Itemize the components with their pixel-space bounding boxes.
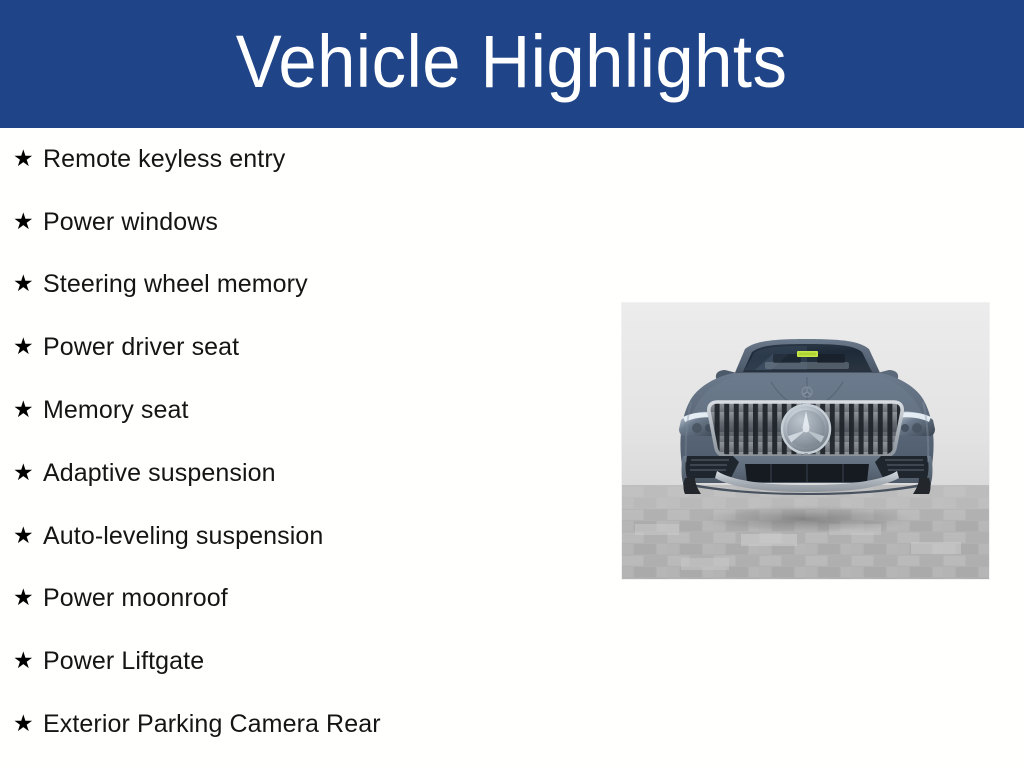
list-item-label: Power moonroof bbox=[43, 584, 228, 613]
list-item: ★ Adaptive suspension bbox=[0, 442, 600, 505]
page-title: Vehicle Highlights bbox=[236, 25, 788, 99]
list-item-label: Auto-leveling suspension bbox=[43, 522, 323, 551]
star-bullet-icon: ★ bbox=[13, 398, 43, 421]
mercedes-star-emblem bbox=[782, 405, 830, 453]
list-item-label: Power driver seat bbox=[43, 333, 239, 362]
vehicle-highlights-list: ★ Remote keyless entry ★ Power windows ★… bbox=[0, 128, 600, 756]
list-item: ★ Remote keyless entry bbox=[0, 128, 600, 191]
list-item-label: Power Liftgate bbox=[43, 647, 204, 676]
list-item-label: Exterior Parking Camera Rear bbox=[43, 710, 381, 739]
star-bullet-icon: ★ bbox=[13, 712, 43, 735]
list-item: ★ Exterior Parking Camera Rear bbox=[0, 693, 600, 756]
star-bullet-icon: ★ bbox=[13, 649, 43, 672]
star-bullet-icon: ★ bbox=[13, 147, 43, 170]
vehicle-front-view-illustration bbox=[621, 302, 990, 580]
star-bullet-icon: ★ bbox=[13, 586, 43, 609]
list-item: ★ Power Liftgate bbox=[0, 630, 600, 693]
vehicle-photo bbox=[621, 302, 990, 580]
list-item-label: Memory seat bbox=[43, 396, 189, 425]
star-bullet-icon: ★ bbox=[13, 272, 43, 295]
list-item: ★ Power windows bbox=[0, 191, 600, 254]
star-bullet-icon: ★ bbox=[13, 335, 43, 358]
star-bullet-icon: ★ bbox=[13, 461, 43, 484]
list-item-label: Power windows bbox=[43, 208, 218, 237]
vehicle-shadow bbox=[699, 505, 915, 533]
list-item: ★ Power driver seat bbox=[0, 316, 600, 379]
list-item-label: Steering wheel memory bbox=[43, 270, 308, 299]
list-item: ★ Auto-leveling suspension bbox=[0, 505, 600, 568]
list-item: ★ Power moonroof bbox=[0, 568, 600, 631]
list-item-label: Remote keyless entry bbox=[43, 145, 285, 174]
list-item-label: Adaptive suspension bbox=[43, 459, 276, 488]
list-item: ★ Steering wheel memory bbox=[0, 254, 600, 317]
list-item: ★ Memory seat bbox=[0, 379, 600, 442]
star-bullet-icon: ★ bbox=[13, 524, 43, 547]
star-bullet-icon: ★ bbox=[13, 210, 43, 233]
title-banner: Vehicle Highlights bbox=[0, 0, 1024, 128]
